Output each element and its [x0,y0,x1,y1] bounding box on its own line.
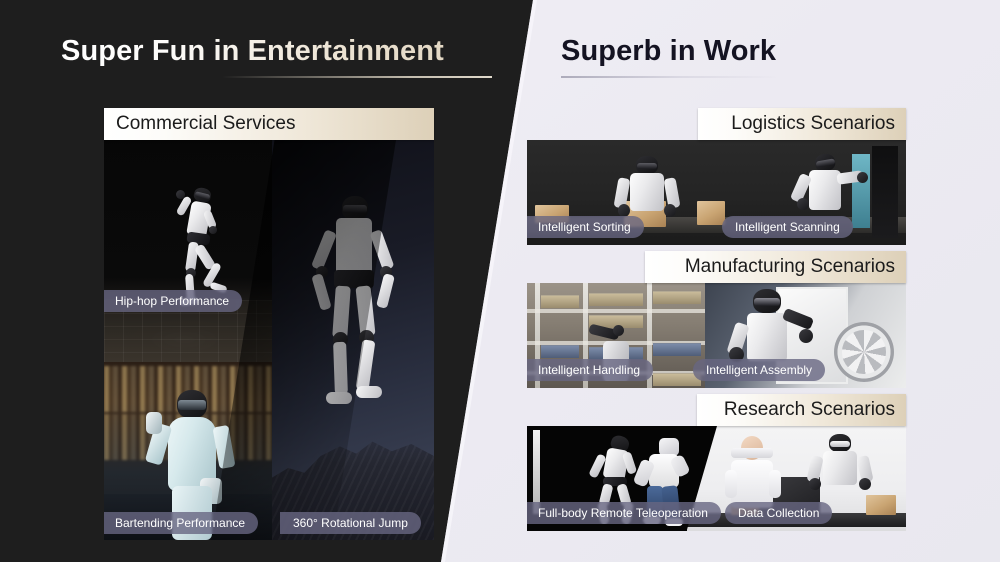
slide-root: Super Fun in Entertainment Superb in Wor… [0,0,1000,562]
caption-label: Intelligent Scanning [735,220,840,234]
caption-bartending-performance: Bartending Performance [104,512,258,534]
banner-label: Commercial Services [116,113,295,135]
caption-label: Intelligent Handling [538,363,640,377]
caption-intelligent-assembly: Intelligent Assembly [693,359,825,381]
left-title-underline [222,76,492,78]
logistics-image-strip: Intelligent Sorting Intelligent Scanning [527,140,906,245]
caption-label: Hip-hop Performance [115,294,229,308]
caption-intelligent-scanning: Intelligent Scanning [722,216,853,238]
banner-research-scenarios: Research Scenarios [697,394,906,426]
banner-label: Logistics Scenarios [731,113,895,135]
photo-360-rotational-jump [272,140,434,540]
caption-label: Data Collection [738,506,819,520]
left-panel-title: Super Fun in Entertainment [61,35,444,68]
caption-hip-hop-performance: Hip-hop Performance [104,290,242,312]
caption-intelligent-sorting: Intelligent Sorting [527,216,644,238]
caption-label: Intelligent Assembly [706,363,812,377]
scanner-cabinet [872,146,898,238]
banner-commercial-services: Commercial Services [104,108,434,140]
caption-intelligent-handling: Intelligent Handling [527,359,653,381]
banner-label: Research Scenarios [724,399,895,421]
caption-label: Full-body Remote Teleoperation [538,506,708,520]
manufacturing-image-strip: Intelligent Handling Intelligent Assembl… [527,283,906,388]
commercial-services-image-grid: Hip-hop Performance Bartending Performan… [104,140,434,540]
banner-label: Manufacturing Scenarios [685,256,895,278]
parcel-box [697,201,725,225]
right-panel-title: Superb in Work [561,35,776,68]
caption-full-body-remote-teleoperation: Full-body Remote Teleoperation [527,502,721,524]
banner-manufacturing-scenarios: Manufacturing Scenarios [645,251,906,283]
caption-label: 360° Rotational Jump [293,516,408,530]
right-title-underline [561,76,781,78]
robot-data-collection-figure [807,434,873,504]
research-image-strip: Full-body Remote Teleoperation Data Coll… [527,426,906,531]
caption-data-collection: Data Collection [725,502,832,524]
caption-label: Intelligent Sorting [538,220,631,234]
caption-360-rotational-jump: 360° Rotational Jump [280,512,421,534]
car-wheel [834,322,894,382]
robot-jumper-figure [314,196,394,446]
banner-logistics-scenarios: Logistics Scenarios [698,108,906,140]
caption-label: Bartending Performance [115,516,245,530]
